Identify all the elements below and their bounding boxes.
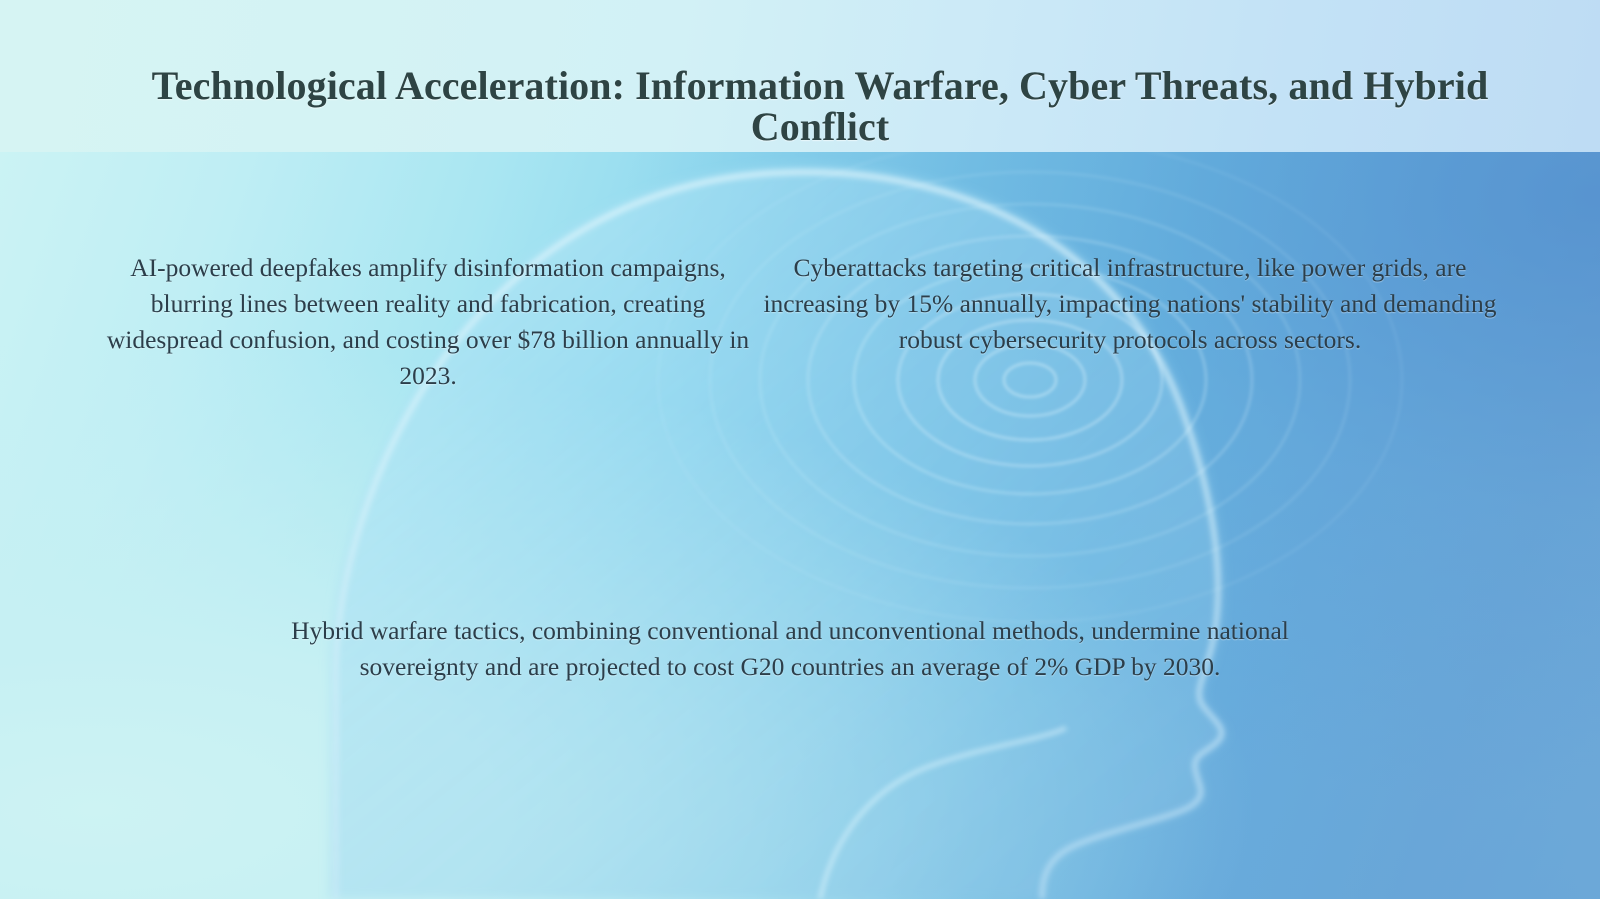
slide-canvas: Technological Acceleration: Information … — [0, 0, 1600, 899]
content-block-left: AI-powered deepfakes amplify disinformat… — [103, 250, 753, 395]
content-block-right: Cyberattacks targeting critical infrastr… — [760, 250, 1500, 359]
content-block-bottom: Hybrid warfare tactics, combining conven… — [265, 613, 1315, 685]
slide-title: Technological Acceleration: Information … — [95, 65, 1545, 148]
